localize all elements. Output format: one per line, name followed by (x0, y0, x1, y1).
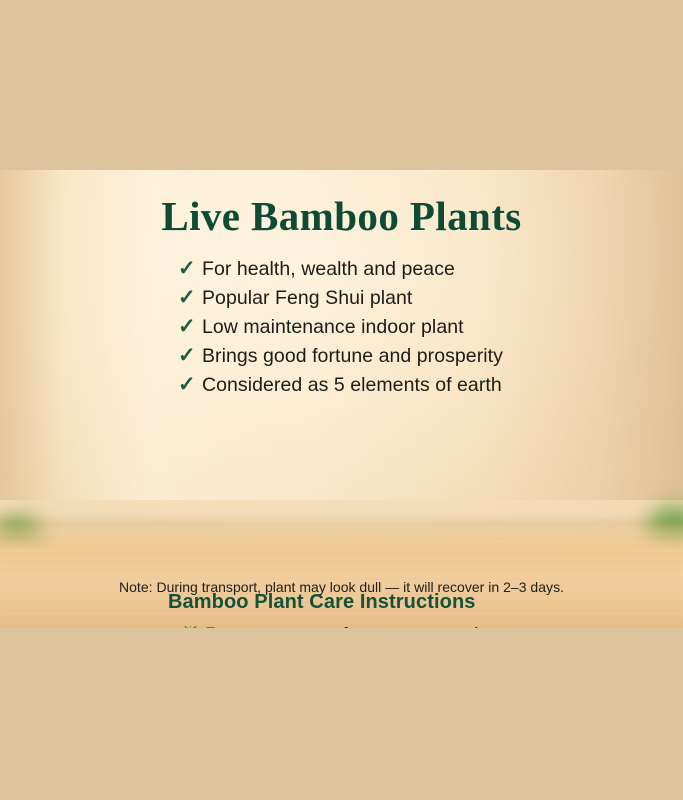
check-icon: ✓ (178, 316, 202, 337)
product-image-page: Live Bamboo Plants ✓ For health, wealth … (0, 0, 683, 800)
benefit-text: Low maintenance indoor plant (202, 316, 464, 339)
list-item: Remove cotton from roots gently (180, 621, 630, 628)
product-image: Live Bamboo Plants ✓ For health, wealth … (0, 170, 683, 628)
check-icon: ✓ (178, 374, 202, 395)
transport-note: Note: During transport, plant may look d… (0, 579, 683, 595)
check-icon: ✓ (178, 287, 202, 308)
benefits-list: ✓ For health, wealth and peace ✓ Popular… (178, 258, 608, 403)
list-item: ✓ Low maintenance indoor plant (178, 316, 608, 345)
benefit-text: Considered as 5 elements of earth (202, 374, 502, 397)
care-text: Remove cotton from roots gently (205, 624, 488, 628)
list-item: ✓ Considered as 5 elements of earth (178, 374, 608, 403)
potted-plant-icon (180, 625, 203, 628)
letterbox-band-top (0, 0, 683, 170)
benefit-text: For health, wealth and peace (202, 258, 455, 281)
letterbox-band-bottom (0, 628, 683, 800)
list-item: ✓ Brings good fortune and prosperity (178, 345, 608, 374)
check-icon: ✓ (178, 258, 202, 279)
list-item: ✓ For health, wealth and peace (178, 258, 608, 287)
benefit-text: Popular Feng Shui plant (202, 287, 412, 310)
benefit-text: Brings good fortune and prosperity (202, 345, 503, 368)
list-item: ✓ Popular Feng Shui plant (178, 287, 608, 316)
check-icon: ✓ (178, 345, 202, 366)
page-title: Live Bamboo Plants (0, 192, 683, 240)
care-instructions-list: Remove cotton from roots gently Use on (180, 621, 630, 628)
image-content: Live Bamboo Plants ✓ For health, wealth … (0, 170, 683, 628)
